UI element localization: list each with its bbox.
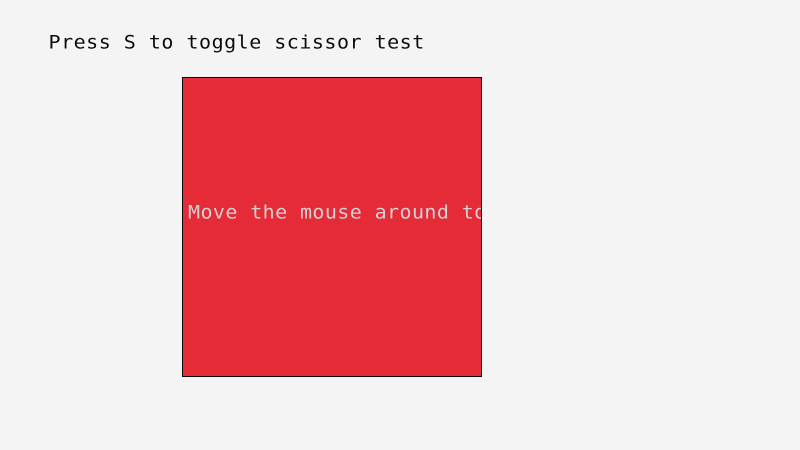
hint-bar: Press S to toggle scissor test xyxy=(10,7,770,31)
scissor-region[interactable]: Move the mouse around to reveal this tex… xyxy=(182,77,482,377)
scissor-clipped-text: Move the mouse around to reveal this tex… xyxy=(188,201,482,223)
toggle-scissor-hint-label: Press S to toggle scissor test xyxy=(49,31,425,53)
demo-canvas: Press S to toggle scissor test Move the … xyxy=(0,0,800,450)
scissor-visible-text: Move the mouse around to r xyxy=(0,0,1,1)
